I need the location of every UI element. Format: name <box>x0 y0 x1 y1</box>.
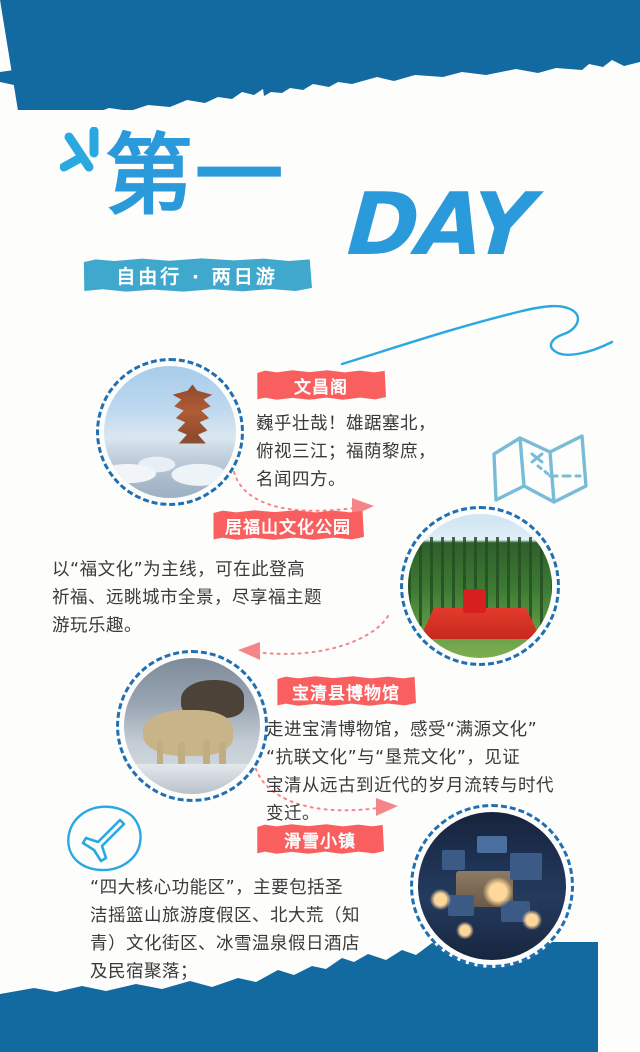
photo-ski-town[interactable] <box>410 804 574 968</box>
subtitle-badge-label: 自由行 · 两日游 <box>82 258 312 292</box>
body-baoqing-museum: 走进宝清博物馆，感受“满源文化” “抗联文化”与“垦荒文化”，见证 宝清从远古到… <box>266 716 626 828</box>
travel-poster: 第一 DAY 自由行 · 两日游 <box>0 0 640 1052</box>
tag-baoqing-museum[interactable]: 宝清县博物馆 <box>276 676 416 706</box>
tag-wenchangge-label: 文昌阁 <box>256 370 386 400</box>
photo-jufushan-park-image <box>408 514 552 658</box>
page-title-cn: 第一 <box>105 132 285 220</box>
tag-jufushan-park[interactable]: 居福山文化公园 <box>212 510 364 540</box>
page-title-en: DAY <box>345 182 535 268</box>
photo-baoqing-museum-image <box>124 658 260 794</box>
photo-wenchangge[interactable] <box>96 358 244 506</box>
photo-jufushan-park[interactable] <box>400 506 560 666</box>
tag-jufushan-park-label: 居福山文化公园 <box>212 510 364 540</box>
photo-wenchangge-image <box>104 366 236 498</box>
tag-wenchangge[interactable]: 文昌阁 <box>256 370 386 400</box>
top-torn-band <box>0 0 640 110</box>
tag-ski-town[interactable]: 滑雪小镇 <box>256 824 384 854</box>
tag-baoqing-museum-label: 宝清县博物馆 <box>276 676 416 706</box>
squiggle-line-icon <box>340 286 615 366</box>
header-title-block: 第一 DAY 自由行 · 两日游 <box>0 110 640 340</box>
photo-baoqing-museum[interactable] <box>116 650 268 802</box>
subtitle-badge: 自由行 · 两日游 <box>82 258 312 292</box>
tag-ski-town-label: 滑雪小镇 <box>256 824 384 854</box>
body-ski-town: “四大核心功能区”，主要包括圣 洁摇篮山旅游度假区、北大荒（知 青）文化街区、冰… <box>90 874 420 986</box>
photo-ski-town-image <box>418 812 566 960</box>
body-wenchangge: 巍乎壮哉！雄踞塞北， 俯视三江；福荫黎庶， 名闻四方。 <box>256 410 556 494</box>
body-jufushan-park: 以“福文化”为主线，可在此登高 祈福、远眺城市全景，尽享福主题 游玩乐趣。 <box>52 556 392 640</box>
